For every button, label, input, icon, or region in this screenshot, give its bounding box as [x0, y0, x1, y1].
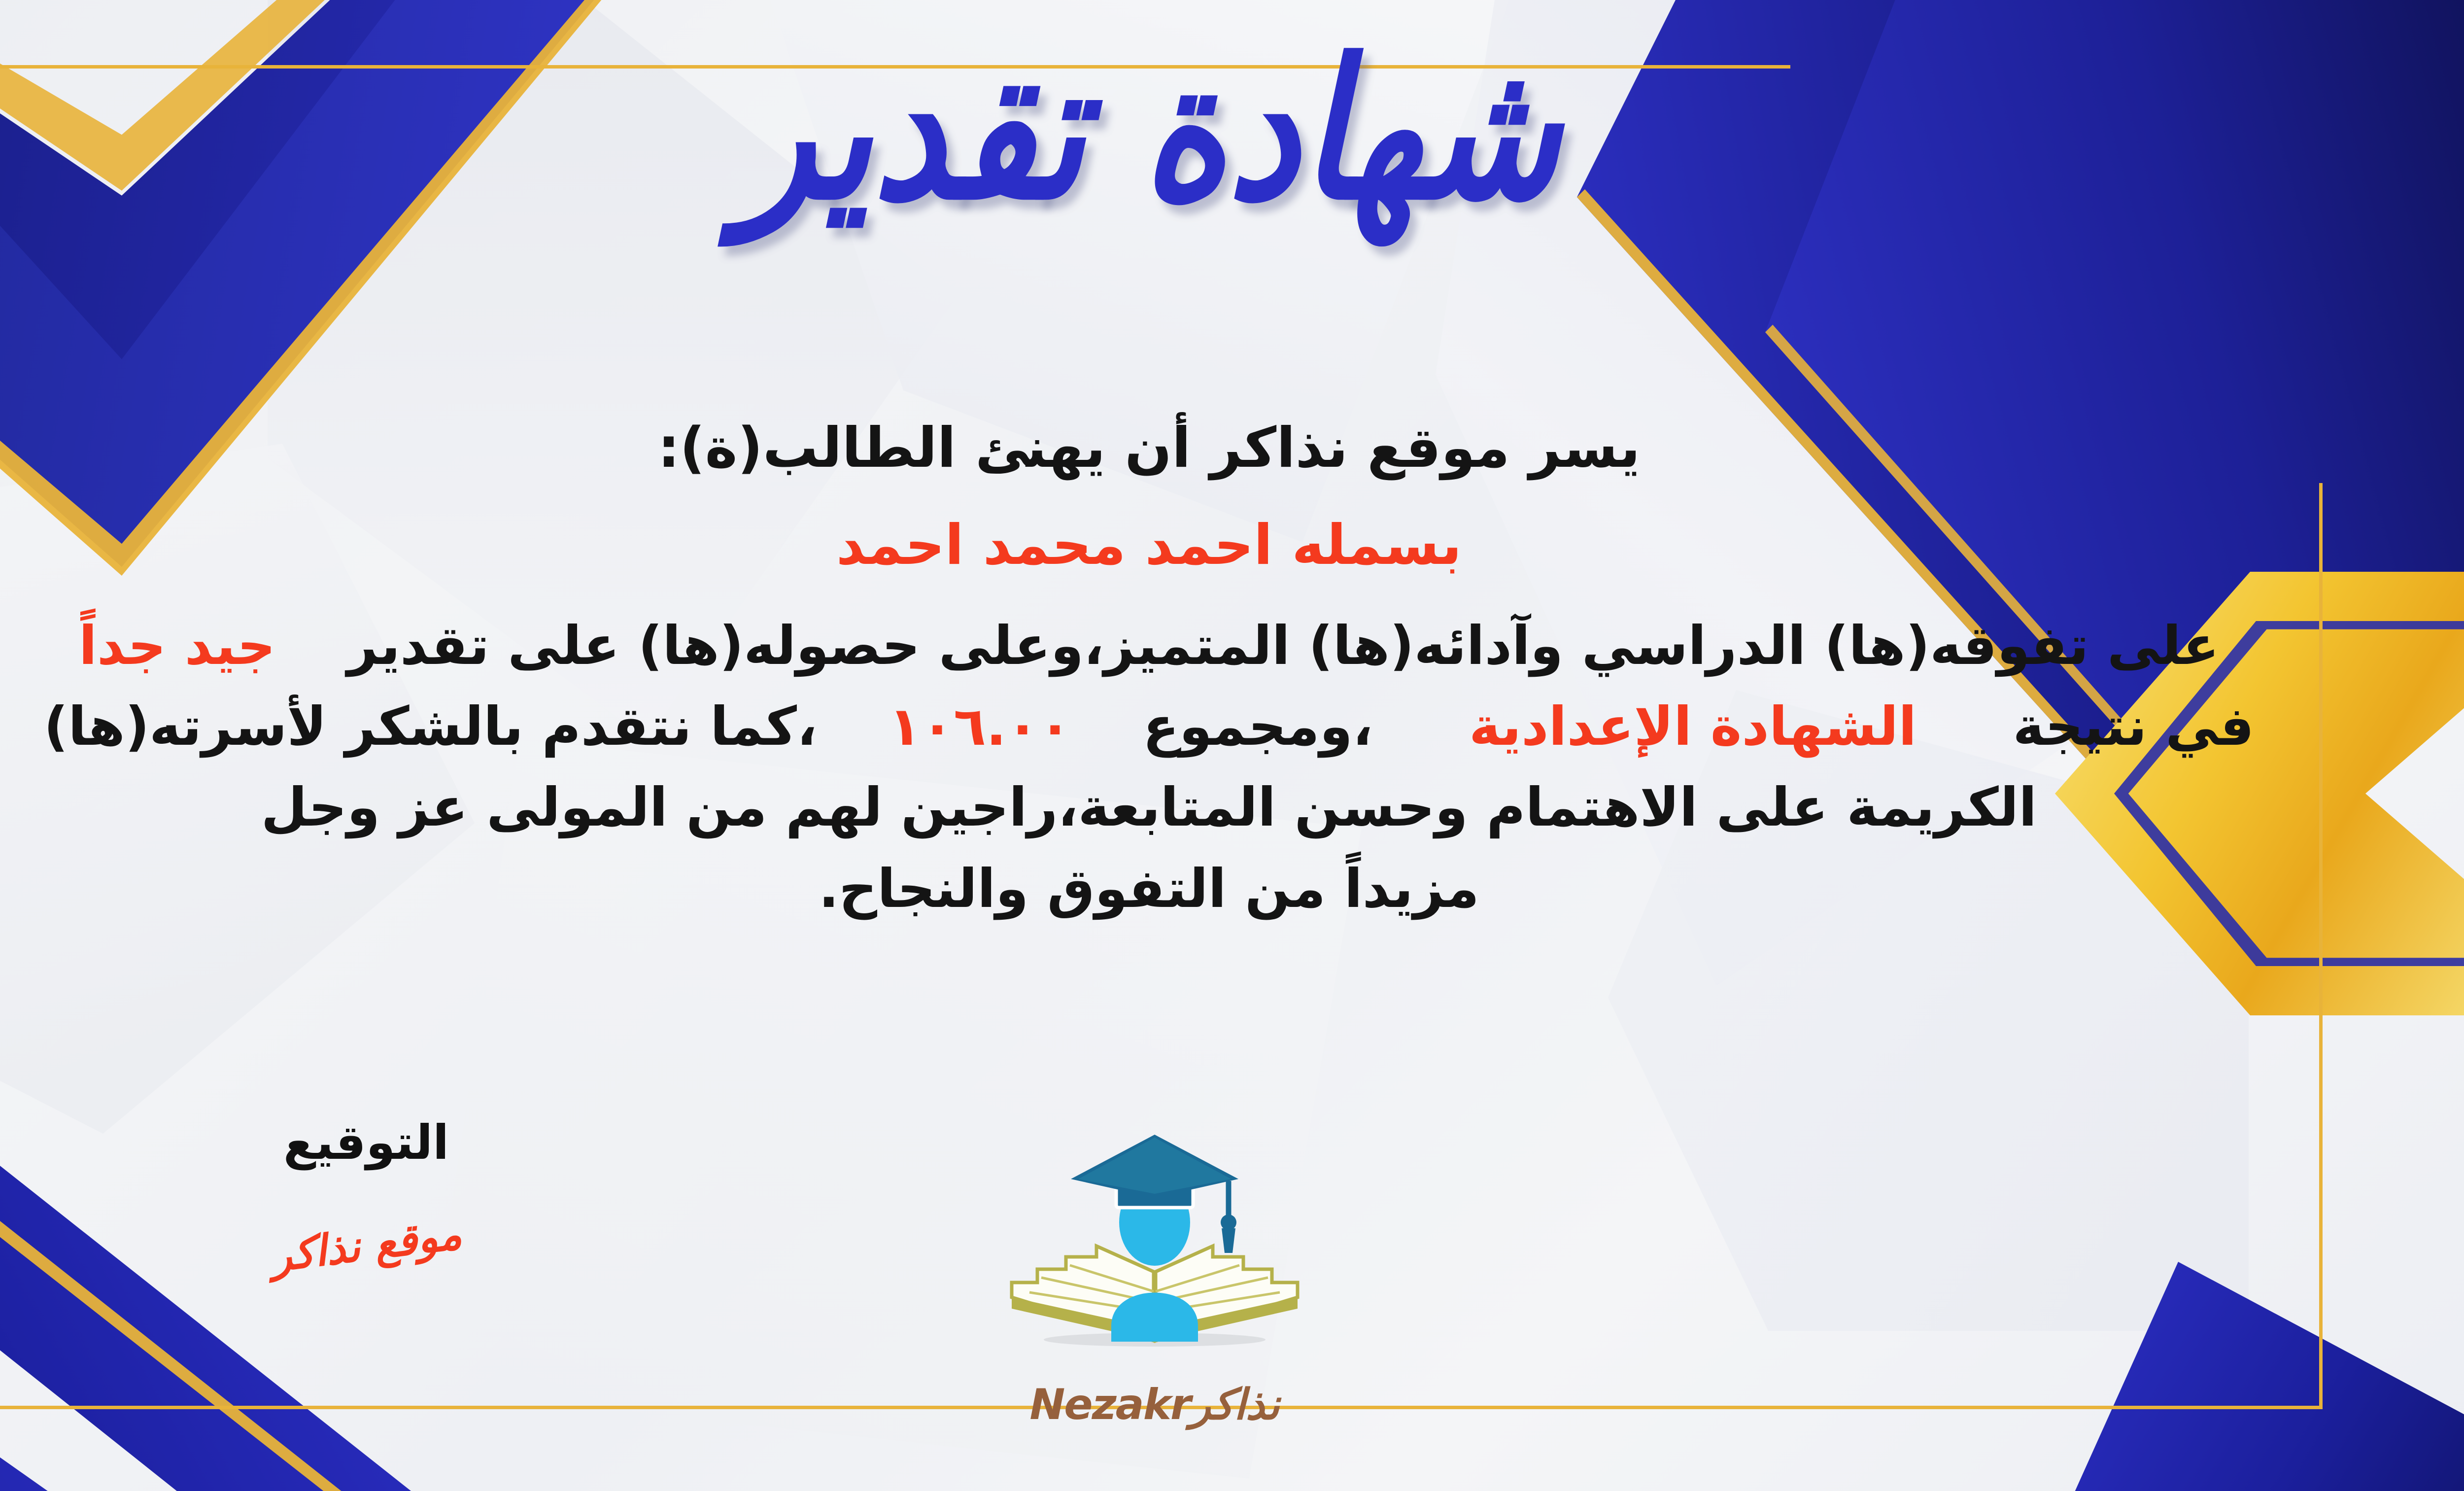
certificate-title: شهادة تقدير	[0, 35, 2464, 226]
logo-graphic	[982, 1119, 1327, 1424]
logo-wordmark-arabic: نذاكر	[1190, 1380, 1279, 1429]
certificate-document: شهادة تقدير يسر موقع نذاكر أن يهنئ الطال…	[0, 0, 2464, 1491]
total-score-value: ١٠٦.٠٠	[889, 696, 1071, 758]
thanks-text: ،كما نتقدم بالشكر لأسرته(ها)	[44, 696, 817, 758]
award-text-part1: على تفوقه(ها) الدراسي وآدائه(ها) المتميز…	[347, 615, 2219, 677]
student-name: بسمله احمد محمد احمد	[0, 513, 2316, 577]
exam-name: الشهادة الإعدادية	[1469, 696, 1916, 758]
certificate-content: شهادة تقدير يسر موقع نذاكر أن يهنئ الطال…	[0, 0, 2464, 1491]
nezakr-logo: Nezakrنذاكر	[982, 1119, 1327, 1424]
signature-handwriting: موقع نذاكر	[206, 1201, 526, 1289]
closing-text: مزيداً من التفوق والنجاح.	[819, 858, 1479, 920]
logo-wordmark-latin: Nezakr	[1029, 1380, 1190, 1429]
tassel	[1222, 1228, 1235, 1253]
family-text: الكريمة على الاهتمام وحسن المتابعة،راجين…	[261, 777, 2037, 838]
award-paragraph: على تفوقه(ها) الدراسي وآدائه(ها) المتميز…	[0, 606, 2316, 930]
logo-wordmark: Nezakrنذاكر	[982, 1380, 1327, 1429]
exam-label: في نتيجة	[2013, 696, 2254, 758]
total-label: ،ومجموع	[1143, 696, 1373, 758]
grade-value: جيد جداً	[79, 615, 275, 677]
intro-line: يسر موقع نذاكر أن يهنئ الطالب(ة):	[0, 409, 2316, 487]
certificate-body: يسر موقع نذاكر أن يهنئ الطالب(ة): بسمله …	[0, 409, 2316, 930]
signature-label: التوقيع	[208, 1119, 524, 1166]
signature-area: التوقيع موقع نذاكر	[208, 1119, 524, 1270]
